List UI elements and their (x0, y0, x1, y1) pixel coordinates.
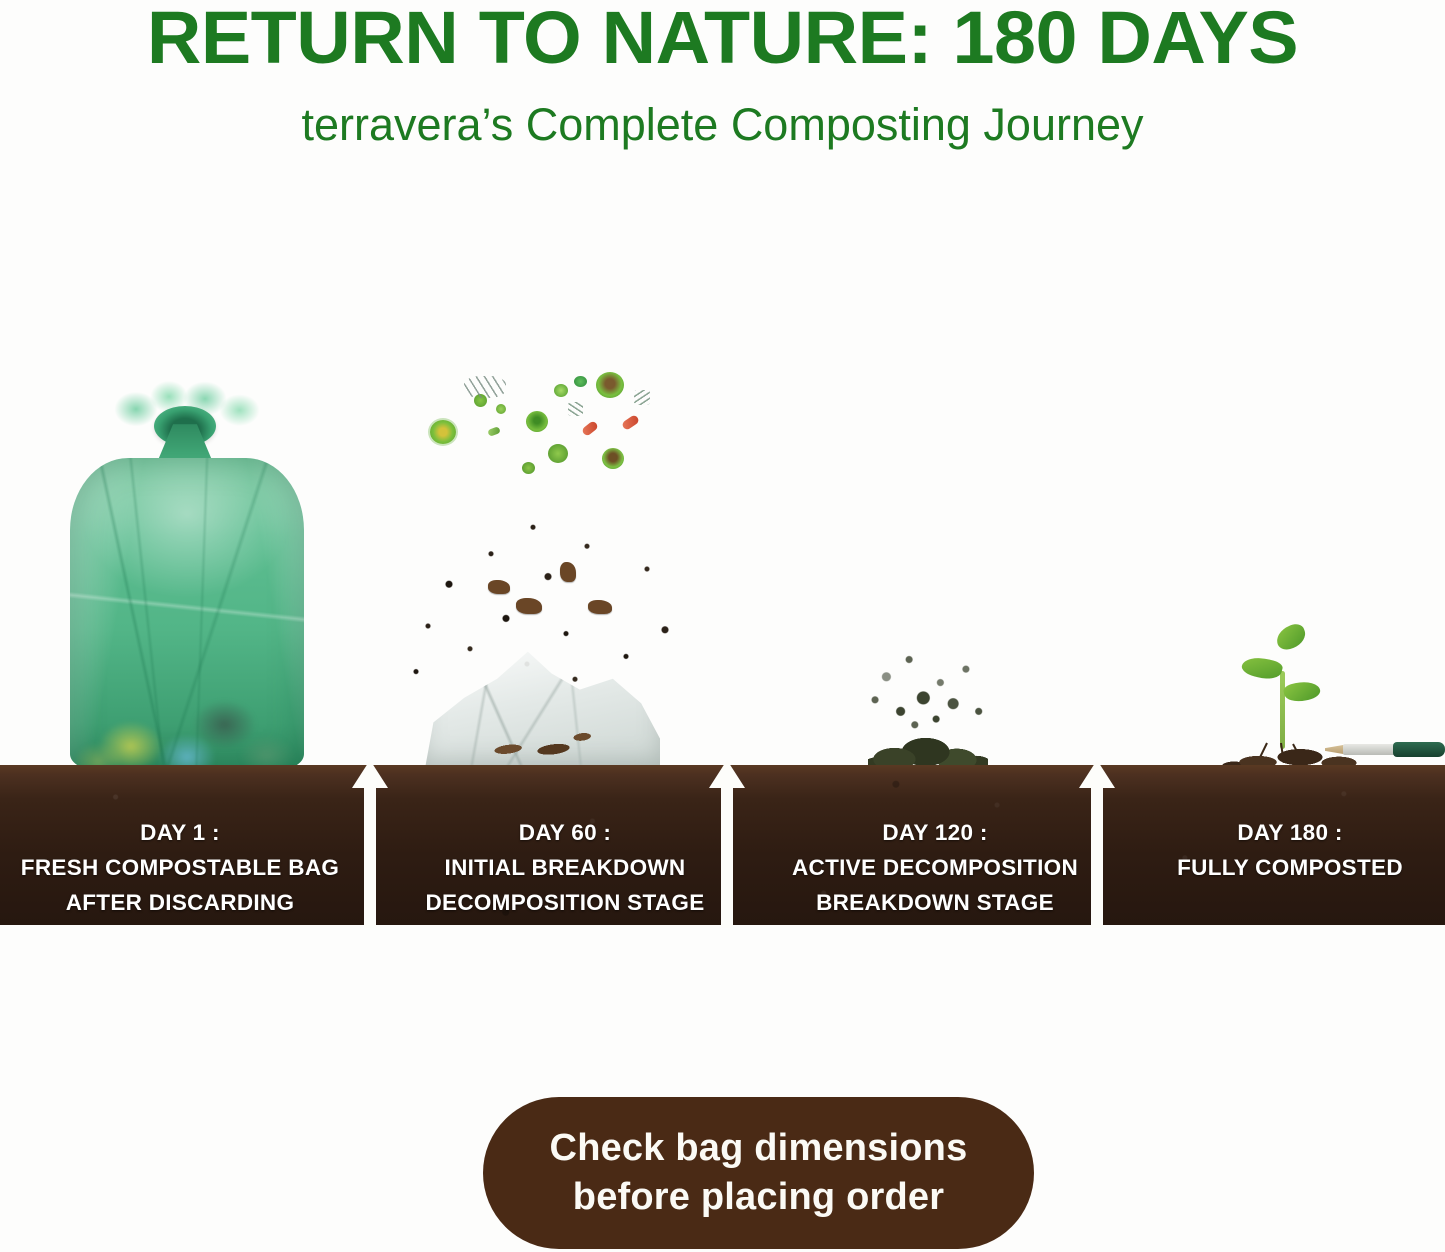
microbe-icon (602, 448, 624, 469)
amoeba-icon (464, 376, 506, 398)
garden-tool-handle (1393, 742, 1445, 757)
microbe-icon (596, 372, 624, 398)
bag-wrinkles (70, 458, 304, 770)
stage-4-line-2: FULLY COMPOSTED (1140, 850, 1440, 885)
stage-1-line-3: AFTER DISCARDING (10, 885, 350, 920)
stage-4-caption: DAY 180 : FULLY COMPOSTED (1140, 815, 1440, 885)
seedling-leaf-icon (1282, 678, 1321, 704)
stage-2-caption: DAY 60 : INITIAL BREAKDOWN DECOMPOSITION… (400, 815, 730, 920)
cta-line-1: Check bag dimensions (550, 1124, 968, 1173)
microbe-cluster (426, 366, 676, 496)
microbe-icon (522, 462, 535, 474)
stage-3-day-label: DAY 120 : (770, 815, 1100, 850)
stage-1-day-label: DAY 1 : (10, 815, 350, 850)
stage-3-line-3: BREAKDOWN STAGE (770, 885, 1100, 920)
infographic-canvas: RETURN TO NATURE: 180 DAYS terravera’s C… (0, 0, 1445, 1252)
stage-2-line-3: DECOMPOSITION STAGE (400, 885, 730, 920)
stage-4-day-label: DAY 180 : (1140, 815, 1440, 850)
floating-compost-fragments (858, 648, 1000, 744)
page-title: RETURN TO NATURE: 180 DAYS (0, 0, 1445, 80)
debris-chunk (560, 562, 576, 582)
cta-line-2: before placing order (573, 1173, 944, 1222)
spore-icon (634, 390, 650, 405)
debris-chunk (516, 598, 542, 614)
bacillus-icon (487, 426, 501, 437)
page-subtitle: terravera’s Complete Composting Journey (0, 96, 1445, 154)
seedling-leaf-icon (1273, 621, 1309, 653)
debris-chunk (488, 580, 510, 594)
check-bag-dimensions-button[interactable]: Check bag dimensions before placing orde… (483, 1097, 1034, 1249)
microbe-icon (574, 376, 587, 387)
bag-body (70, 458, 304, 770)
arrow-marker-day-60 (348, 758, 392, 928)
microbe-icon (554, 384, 568, 397)
stage-1-compostable-bag-image (62, 380, 312, 770)
seedling-leaf-icon (1240, 653, 1284, 682)
stage-2-line-2: INITIAL BREAKDOWN (400, 850, 730, 885)
stage-2-breakdown-image (392, 362, 692, 774)
microbe-icon (548, 444, 568, 463)
garden-tool-icon (1327, 740, 1445, 757)
stage-1-line-2: FRESH COMPOSTABLE BAG (10, 850, 350, 885)
bacillus-icon (581, 420, 599, 437)
stage-1-caption: DAY 1 : FRESH COMPOSTABLE BAG AFTER DISC… (10, 815, 350, 920)
microbe-icon (526, 411, 548, 432)
bacillus-icon (621, 414, 640, 431)
stage-3-line-2: ACTIVE DECOMPOSITION (770, 850, 1100, 885)
debris-chunk (588, 600, 612, 614)
stage-2-day-label: DAY 60 : (400, 815, 730, 850)
garden-tool-shaft (1343, 744, 1399, 755)
microbe-icon (430, 420, 456, 444)
stage-3-compost-pile-image (840, 648, 1020, 770)
spore-icon (568, 402, 583, 416)
stage-3-caption: DAY 120 : ACTIVE DECOMPOSITION BREAKDOWN… (770, 815, 1100, 920)
microbe-icon (496, 404, 506, 414)
stage-4-seedling-image (1180, 618, 1445, 773)
